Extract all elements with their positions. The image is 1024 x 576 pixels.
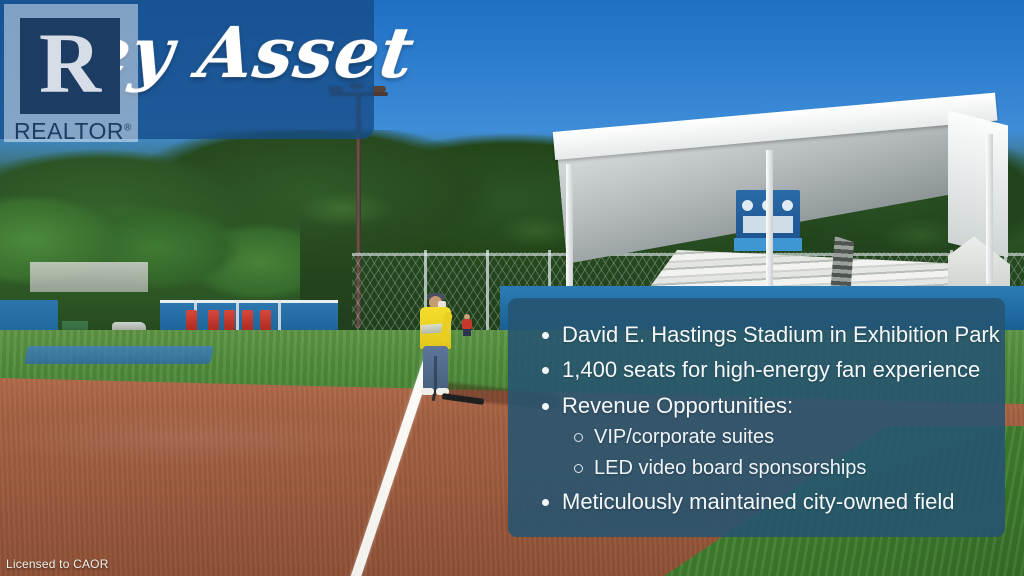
worker-shoe <box>421 388 434 395</box>
background-building <box>30 262 148 292</box>
hanging-jersey <box>260 310 271 332</box>
feature-bullet-list: David E. Hastings Stadium in Exhibition … <box>532 320 985 517</box>
press-box-window <box>742 200 753 211</box>
realtor-wordmark: REALTOR® <box>14 118 134 145</box>
realtor-logo: R REALTOR® <box>4 4 138 142</box>
list-item: Meticulously maintained city-owned field <box>532 487 985 517</box>
bullet-text: 1,400 seats for high-energy fan experien… <box>562 357 980 382</box>
hanging-jersey <box>186 310 197 332</box>
painted-field-logo <box>24 346 214 364</box>
registered-trademark-icon: ® <box>124 122 132 133</box>
licence-notice: Licensed to CAOR <box>0 554 119 576</box>
list-item: Revenue Opportunities: VIP/corporate sui… <box>532 391 985 482</box>
fence-post <box>486 250 489 336</box>
sub-bullet-text: LED video board sponsorships <box>594 457 866 479</box>
realtor-r-block: R <box>20 18 120 114</box>
roof-column <box>986 134 993 284</box>
hanging-jersey <box>224 310 235 332</box>
hanging-jersey <box>242 310 253 332</box>
bullet-text: Meticulously maintained city-owned field <box>562 489 955 514</box>
distant-player <box>462 314 472 336</box>
bullet-text: David E. Hastings Stadium in Exhibition … <box>562 322 1000 347</box>
list-item: 1,400 seats for high-energy fan experien… <box>532 355 985 385</box>
list-item: VIP/corporate suites <box>562 423 985 451</box>
revenue-sub-list: VIP/corporate suites LED video board spo… <box>562 423 985 482</box>
player-legs <box>463 329 471 336</box>
worker-leg-gap <box>434 356 437 390</box>
bullet-text: Revenue Opportunities: <box>562 393 793 418</box>
hanging-jersey <box>208 310 219 332</box>
realtor-wordmark-text: REALTOR <box>14 118 124 144</box>
feature-highlights-panel: David E. Hastings Stadium in Exhibition … <box>508 298 1005 537</box>
list-item: LED video board sponsorships <box>562 454 985 482</box>
list-item: David E. Hastings Stadium in Exhibition … <box>532 320 985 350</box>
slide-canvas: Key Asset R REALTOR® David E. Hastings S… <box>0 0 1024 576</box>
realtor-r-letter: R <box>39 20 101 106</box>
roof-fascia <box>948 111 1008 258</box>
groundskeeper <box>412 292 458 404</box>
press-box-window <box>782 200 793 211</box>
sub-bullet-text: VIP/corporate suites <box>594 426 774 448</box>
